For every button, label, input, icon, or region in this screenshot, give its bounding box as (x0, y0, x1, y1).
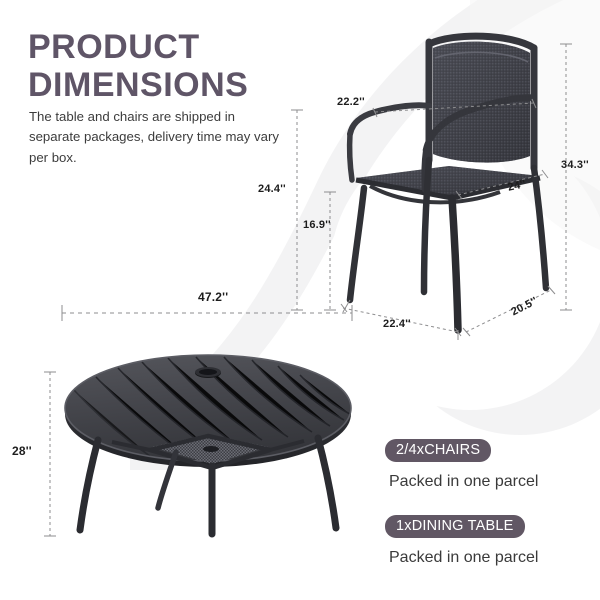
dimension-lines (0, 0, 600, 600)
packaging-badge-chairs: 2/4xCHAIRS (385, 439, 491, 462)
dimline-table-height (44, 372, 56, 536)
dimline-chair-back-height (291, 110, 303, 310)
product-dimensions-infographic: PRODUCT DIMENSIONS The table and chairs … (0, 0, 600, 600)
packaging-note-table: Packed in one parcel (389, 549, 538, 567)
dimension-label-chair-width: 22.4'' (383, 318, 411, 330)
dimension-label-table-diameter: 47.2'' (198, 290, 228, 304)
dimension-label-table-height: 28'' (12, 444, 32, 458)
packaging-note-chairs: Packed in one parcel (389, 473, 538, 491)
dimension-label-chair-back-height: 24.4'' (258, 183, 286, 195)
dimline-chair-arm-width (373, 99, 536, 117)
dimension-label-chair-seat-height: 16.9'' (303, 219, 331, 231)
dimline-chair-seat-depth (456, 170, 548, 199)
packaging-badge-table: 1xDINING TABLE (385, 515, 525, 538)
dimline-chair-seat-height (324, 192, 336, 310)
dimension-label-chair-total-height: 34.3'' (561, 159, 589, 171)
dimline-chair-depth (463, 286, 555, 336)
dimension-label-chair-arm-width: 22.2'' (337, 96, 365, 108)
dimline-table-diameter (62, 305, 352, 321)
dimline-chair-total-height (560, 44, 572, 310)
